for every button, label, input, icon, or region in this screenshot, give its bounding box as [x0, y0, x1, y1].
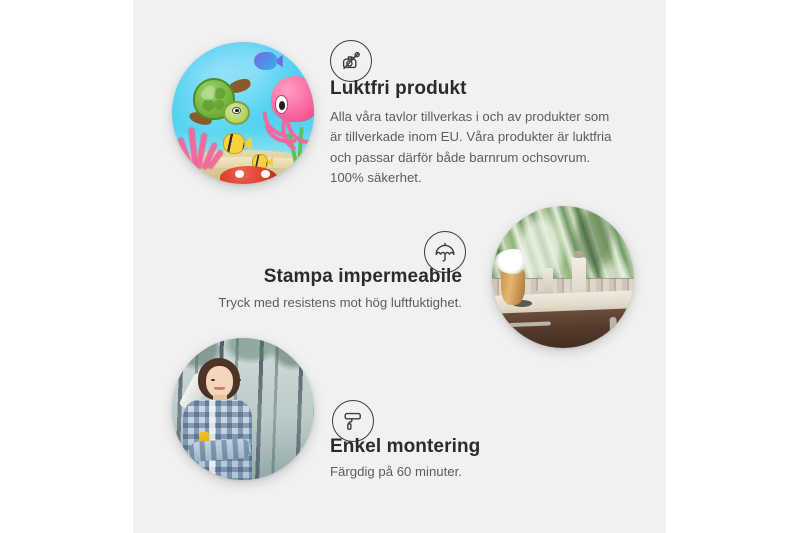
white-flowers [495, 249, 532, 275]
feature-block-easy-mounting: Enkel montering Färgdig på 60 minuter. [330, 436, 600, 482]
feature-description-odorless: Alla våra tavlor tillverkas i och av pro… [330, 107, 620, 187]
underwater-cartoon-photo [172, 42, 314, 184]
wood-vanity-cabinet [492, 308, 634, 348]
soap-dispenser [572, 257, 586, 294]
bathroom-tropical-wallpaper-photo [492, 206, 634, 348]
feature-description-waterproof: Tryck med resistens mot hög luftfuktighe… [200, 293, 462, 313]
red-crab [220, 166, 277, 184]
feature-block-odorless: Luktfri produkt Alla våra tavlor tillver… [330, 78, 620, 188]
no-fragrance-icon [330, 40, 372, 82]
turtle-character [185, 75, 253, 132]
woman-with-roller-forest-photo [172, 338, 314, 480]
bottle [543, 268, 553, 291]
octopus-character [257, 76, 314, 150]
yellow-striped-fish [223, 133, 251, 154]
feature-description-easy-mounting: Färgdig på 60 minuter. [330, 462, 600, 482]
feature-banner: Luktfri produkt Alla våra tavlor tillver… [0, 0, 800, 533]
feature-title-easy-mounting: Enkel montering [330, 436, 600, 458]
feature-title-odorless: Luktfri produkt [330, 78, 620, 100]
gold-vase [501, 269, 525, 306]
blue-fish [254, 52, 282, 70]
feature-title-waterproof: Stampa impermeabile [200, 266, 462, 288]
woman-face [206, 366, 233, 397]
feature-block-waterproof: Stampa impermeabile Tryck med resistens … [200, 266, 462, 313]
